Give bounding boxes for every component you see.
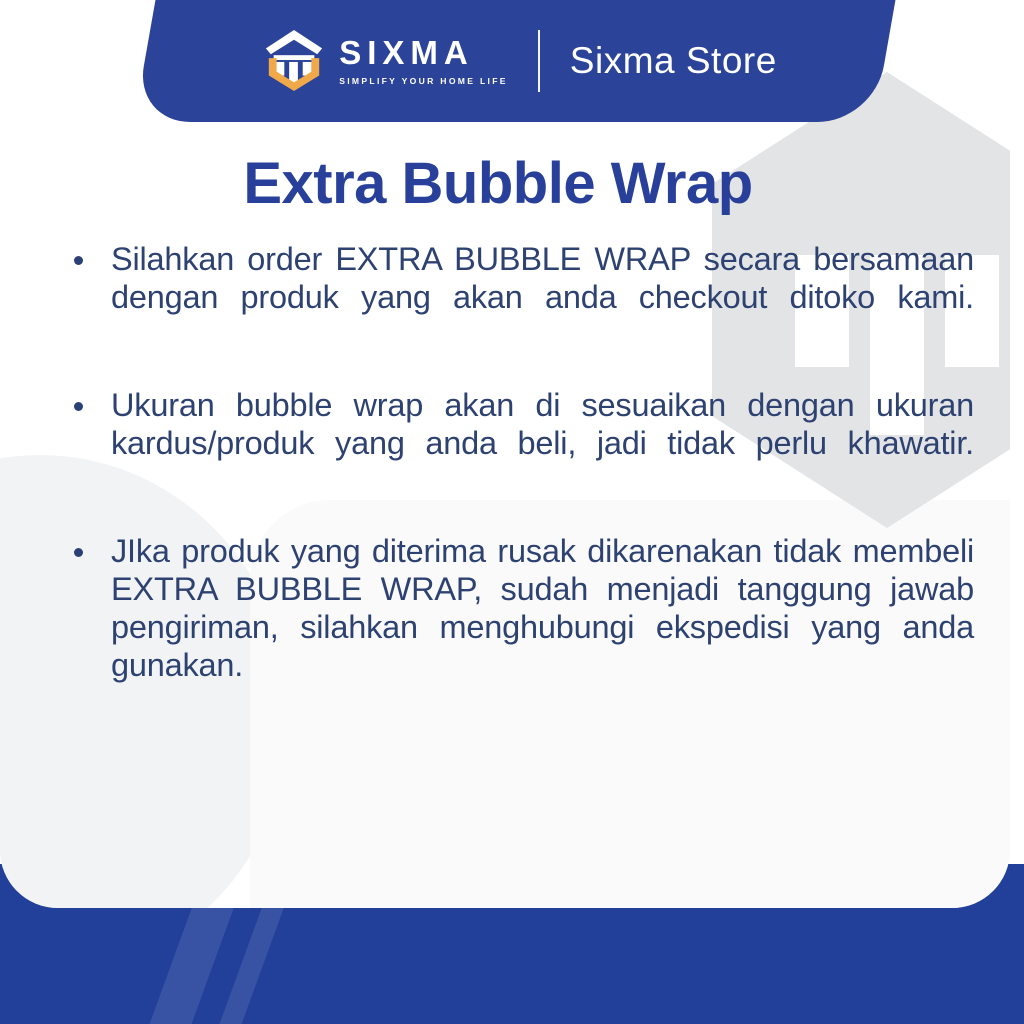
bullet-text: JIka produk yang diterima rusak dikarena…	[111, 532, 974, 722]
bullet-dot-icon	[74, 548, 83, 557]
bullet-text: Ukuran bubble wrap akan di sesuaikan den…	[111, 386, 974, 500]
store-name: Sixma Store	[570, 40, 777, 82]
list-item: Silahkan order EXTRA BUBBLE WRAP secara …	[74, 240, 974, 354]
header-content: SIXMA SIMPLIFY YOUR HOME LIFE Sixma Stor…	[150, 0, 890, 122]
sixma-logo-lockup: SIXMA SIMPLIFY YOUR HOME LIFE	[263, 29, 508, 93]
vertical-divider-icon	[538, 30, 540, 92]
page-title: Extra Bubble Wrap	[0, 150, 996, 217]
bullet-list: Silahkan order EXTRA BUBBLE WRAP secara …	[74, 240, 974, 754]
brand-tagline: SIMPLIFY YOUR HOME LIFE	[339, 76, 508, 86]
bullet-dot-icon	[74, 402, 83, 411]
content-card: SIXMA SIMPLIFY YOUR HOME LIFE Sixma Stor…	[0, 0, 1010, 908]
list-item: JIka produk yang diterima rusak dikarena…	[74, 532, 974, 722]
bullet-text: Silahkan order EXTRA BUBBLE WRAP secara …	[111, 240, 974, 354]
brand-name: SIXMA	[339, 36, 474, 69]
list-item: Ukuran bubble wrap akan di sesuaikan den…	[74, 386, 974, 500]
bullet-dot-icon	[74, 256, 83, 265]
logo-wordmark: SIXMA SIMPLIFY YOUR HOME LIFE	[339, 36, 508, 86]
house-logo-icon	[263, 29, 325, 93]
poster-canvas: SIXMA SIMPLIFY YOUR HOME LIFE Sixma Stor…	[0, 0, 1024, 1024]
